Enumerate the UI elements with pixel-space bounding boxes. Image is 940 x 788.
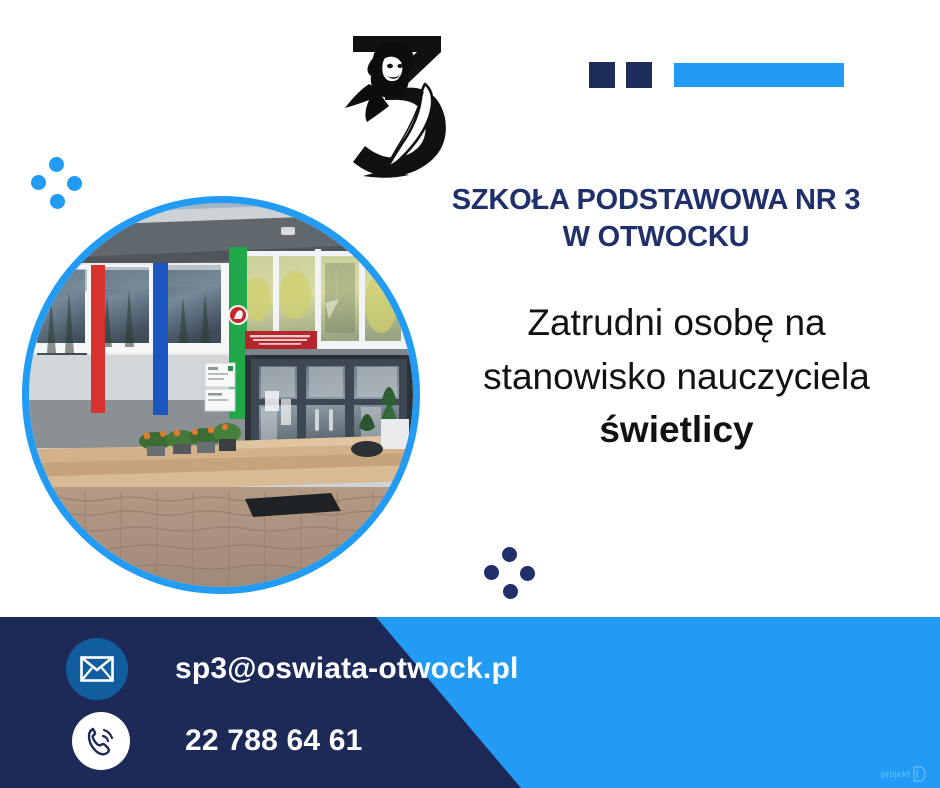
page-title: SZKOŁA PODSTAWOWA NR 3 W OTWOCKU [386, 182, 926, 256]
decorative-square-2 [626, 62, 652, 88]
polish-emblem [228, 305, 248, 325]
school-name-sign [245, 331, 317, 351]
headline-line-1: Zatrudni osobę na [424, 296, 929, 350]
headline-line-2: stanowisko nauczyciela [424, 350, 929, 404]
school-name-line-1: SZKOŁA PODSTAWOWA NR 3 [386, 182, 926, 219]
decorative-square-1 [589, 62, 615, 88]
school-photo-illustration [29, 203, 413, 587]
phone-icon-glyph [84, 724, 118, 758]
decorative-dot-cluster-left [31, 157, 83, 209]
facade-stripe-blue [153, 263, 168, 415]
watermark-d-icon [912, 766, 926, 782]
contact-email-row[interactable]: sp3@oswiata-otwock.pl [66, 638, 519, 700]
email-address[interactable]: sp3@oswiata-otwock.pl [175, 652, 519, 686]
facade-stripe-red [91, 265, 105, 413]
school-building-photo-image [29, 203, 413, 587]
info-boards [205, 363, 235, 411]
school-building-photo [22, 196, 420, 594]
watermark-text: projekt [881, 769, 910, 779]
headline-line-3: świetlicy [424, 403, 929, 457]
decorative-bar-group [589, 62, 844, 88]
school-name-line-2: W OTWOCKU [386, 219, 926, 256]
phone-number[interactable]: 22 788 64 61 [185, 724, 363, 758]
watermark: projekt [881, 766, 926, 782]
phone-icon [72, 712, 130, 770]
contact-phone-row[interactable]: 22 788 64 61 [72, 712, 363, 770]
poster-canvas: SZKOŁA PODSTAWOWA NR 3 W OTWOCKU Zatrudn… [0, 0, 940, 788]
envelope-icon-glyph [80, 656, 114, 682]
logo-three-with-quill-icon [333, 22, 463, 182]
job-announcement-text: Zatrudni osobę na stanowisko nauczyciela… [424, 296, 929, 457]
decorative-bar [674, 63, 844, 87]
envelope-icon [66, 638, 128, 700]
decorative-dot-cluster-center [484, 547, 536, 599]
school-logo [333, 22, 463, 182]
